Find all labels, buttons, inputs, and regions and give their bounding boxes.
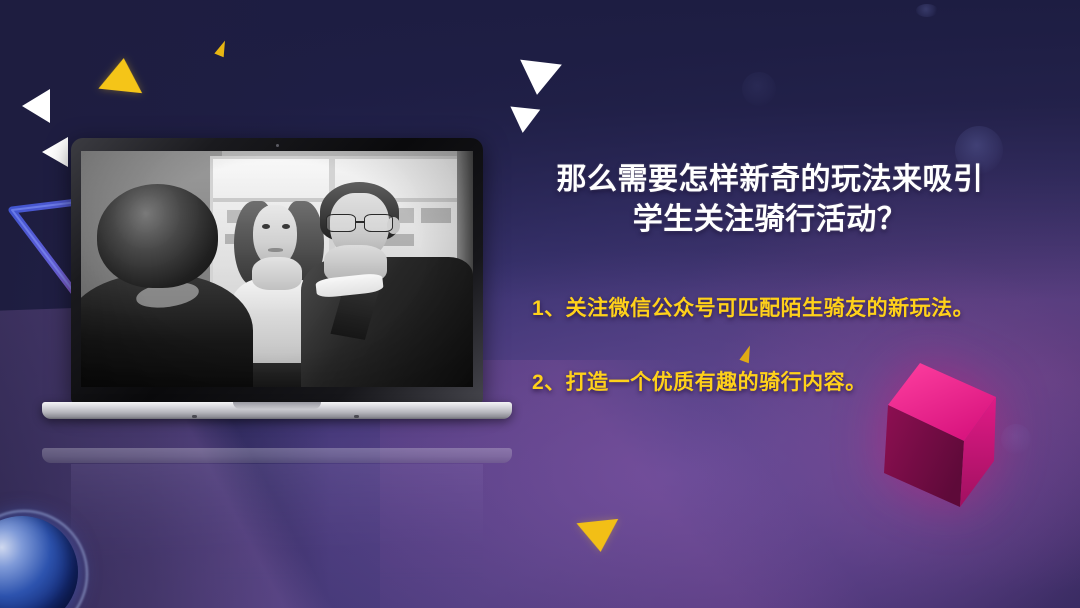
laptop-foot-left (192, 415, 197, 418)
screen-photo-business-meeting (81, 151, 473, 387)
slide-bullet-1: 1、关注微信公众号可匹配陌生骑友的新玩法。 (532, 292, 1030, 322)
webcam-icon (276, 144, 279, 147)
laptop-base-notch (233, 402, 321, 409)
laptop-foot-right (354, 415, 359, 418)
slide-title-line-1: 那么需要怎样新奇的玩法来吸引 (557, 163, 984, 196)
slide-bullet-list: 1、关注微信公众号可匹配陌生骑友的新玩法。 2、打造一个优质有趣的骑行内容。 (510, 292, 1030, 396)
slide-title-line-2: 学生关注骑行活动？ (633, 203, 908, 236)
presentation-slide: 那么需要怎样新奇的玩法来吸引 学生关注骑行活动？ 1、关注微信公众号可匹配陌生骑… (0, 0, 1080, 608)
slide-text-column: 那么需要怎样新奇的玩法来吸引 学生关注骑行活动？ 1、关注微信公众号可匹配陌生骑… (510, 160, 1030, 396)
laptop-lid (71, 138, 483, 403)
laptop-mockup (42, 138, 512, 419)
laptop-base (42, 402, 512, 419)
laptop-screen (81, 151, 473, 387)
slide-bullet-2: 2、打造一个优质有趣的骑行内容。 (532, 366, 1030, 396)
photo-vignette (81, 151, 473, 387)
slide-title: 那么需要怎样新奇的玩法来吸引 学生关注骑行活动？ (510, 160, 1030, 240)
